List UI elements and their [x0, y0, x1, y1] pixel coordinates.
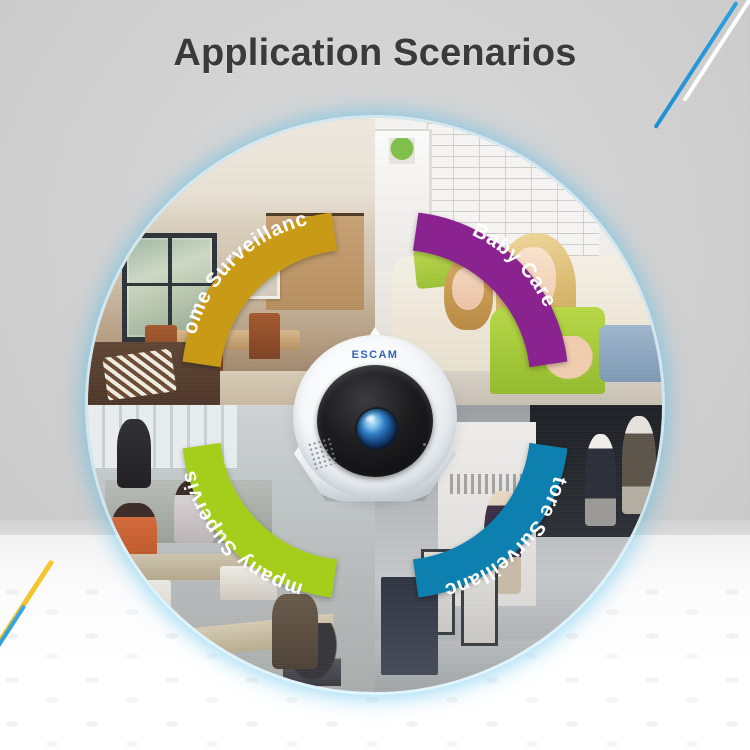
office-desk: [111, 554, 300, 580]
shelf-cabinet: [375, 129, 432, 267]
child-front-face: [510, 247, 556, 310]
mannequin: [622, 416, 656, 514]
chair: [191, 325, 223, 371]
child-back-face: [452, 267, 484, 310]
throw-pillow: [103, 349, 177, 401]
office-window: [88, 405, 237, 468]
child-hands: [541, 336, 596, 382]
office-worker: [174, 480, 214, 543]
child-jeans: [599, 325, 662, 382]
child-front: [496, 233, 576, 348]
office-worker: [111, 503, 157, 566]
dining-table: [163, 330, 301, 350]
window: [122, 233, 217, 342]
office-worker: [117, 419, 151, 488]
infographic-page: Application Scenarios: [0, 0, 750, 750]
display-panel: [421, 549, 455, 635]
office-chair: [283, 623, 340, 686]
green-pillow: [413, 245, 463, 290]
chair: [145, 325, 177, 371]
office-desk: [150, 614, 336, 662]
computer-monitor: [122, 580, 171, 629]
product-camera[interactable]: ESCAM: [283, 325, 467, 509]
sofa: [88, 342, 220, 405]
status-indicator-icon: [423, 443, 426, 446]
office-worker: [272, 594, 318, 669]
store-dark-area: [530, 405, 662, 537]
fisheye-lens-icon: [357, 409, 397, 449]
page-title: Application Scenarios: [0, 32, 750, 75]
mannequin: [484, 491, 521, 594]
cubicle-partition: [105, 480, 271, 543]
display-panel: [461, 554, 498, 646]
printer: [220, 566, 277, 600]
store-floor: [375, 640, 662, 692]
brand-logo: ESCAM: [283, 349, 467, 361]
child-front-shirt: [490, 307, 605, 393]
bookshelf: [266, 213, 364, 311]
clothing-rack: [381, 577, 438, 675]
office-worker: [168, 594, 225, 686]
mannequin: [585, 434, 617, 526]
potted-plant: [389, 138, 415, 164]
brick-wall: [427, 118, 599, 267]
child-back: [444, 256, 493, 331]
chair: [249, 313, 281, 359]
wall-art: [237, 253, 280, 299]
